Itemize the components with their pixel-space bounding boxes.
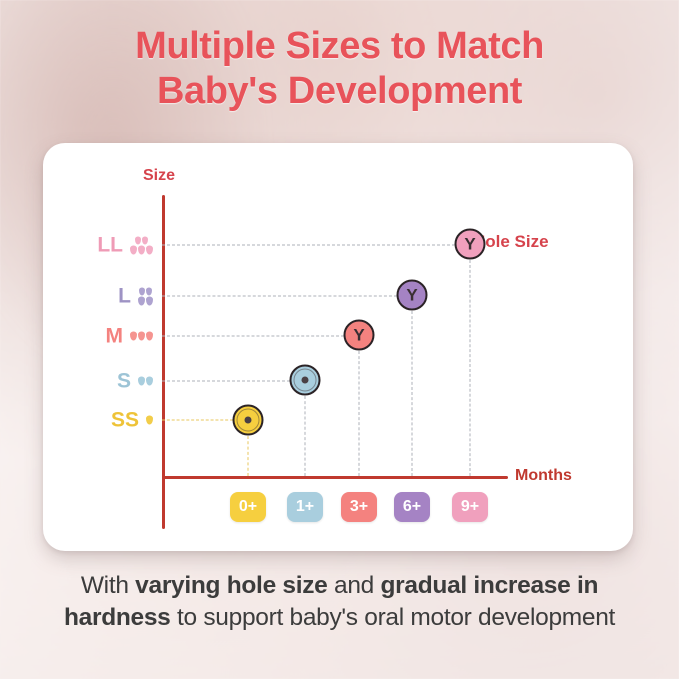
droplet-icon [146,332,153,341]
month-chip-3plus[interactable]: 3+ [341,492,377,522]
size-label-m: M [106,326,124,347]
size-label-l: L [118,286,131,307]
month-chip-1plus[interactable]: 1+ [287,492,323,522]
size-row-ll: LL [43,235,162,256]
horizontal-guide-s [162,381,290,382]
marker-inner-ring [294,369,317,392]
size-row-m: M [43,326,162,347]
droplet-icon [146,377,153,386]
size-row-ss: SS [43,410,162,431]
chart-plot-area: Size Months Hole Size LLLMSSS YYY 0+1+3+… [43,143,633,551]
droplet-row [130,332,153,341]
droplet-icon [138,377,145,386]
horizontal-guide-ss [162,420,233,421]
month-chip-label: 1+ [296,498,314,516]
month-chip-label: 0+ [239,498,257,516]
horizontal-guide-ll [162,245,455,246]
droplet-row [135,236,148,244]
droplet-icon [139,287,145,295]
month-chip-9plus[interactable]: 9+ [452,492,488,522]
droplet-icon [146,287,152,295]
chart-card: Size Months Hole Size LLLMSSS YYY 0+1+3+… [43,143,633,551]
droplet-icon [130,245,137,254]
page-title-line-2: Baby's Development [0,69,679,114]
vertical-guide-1plus [305,396,306,476]
droplet-icon [146,416,153,425]
horizontal-guide-m [162,336,344,337]
page-title: Multiple Sizes to Match Baby's Developme… [0,24,679,114]
data-marker-s[interactable] [290,365,321,396]
droplet-icon [130,332,137,341]
vertical-guide-6plus [412,311,413,476]
footer-text-2: and [328,572,381,599]
data-marker-m[interactable]: Y [344,320,375,351]
vertical-guide-3plus [359,351,360,476]
footer-text-3: to support baby's oral motor development [171,604,616,631]
month-chip-6plus[interactable]: 6+ [394,492,430,522]
footer-bold-1: varying hole size [135,572,327,599]
month-chip-label: 3+ [350,498,368,516]
vertical-guide-0plus [248,436,249,476]
droplet-icon-group-m [130,332,153,341]
droplet-icon [146,245,153,254]
droplet-icon [138,245,145,254]
droplet-icon-group-l [138,287,153,305]
x-axis-line [162,476,508,479]
footer-caption: With varying hole size and gradual incre… [34,570,645,635]
y-axis-label: Size [143,167,175,185]
droplet-icon-group-ss [146,416,153,425]
droplet-icon-group-ll [130,236,153,254]
droplet-row [139,287,152,295]
size-label-ss: SS [111,410,139,431]
month-chip-0plus[interactable]: 0+ [230,492,266,522]
month-chip-label: 6+ [403,498,421,516]
size-row-l: L [43,286,162,307]
droplet-row [146,416,153,425]
marker-label: Y [464,236,475,253]
droplet-icon [146,296,153,305]
droplet-icon [142,236,148,244]
marker-inner-ring [237,409,260,432]
data-marker-l[interactable]: Y [397,280,428,311]
horizontal-guide-l [162,296,397,297]
droplet-row [138,377,153,386]
marker-label: Y [406,287,417,304]
droplet-icon [135,236,141,244]
droplet-icon [138,296,145,305]
data-marker-ss[interactable] [233,405,264,436]
droplet-row [130,245,153,254]
data-marker-ll[interactable]: Y [455,229,486,260]
vertical-guide-9plus [470,260,471,476]
droplet-row [138,296,153,305]
droplet-icon [138,332,145,341]
size-label-ll: LL [97,235,123,256]
x-axis-label: Months [515,467,572,485]
droplet-icon-group-s [138,377,153,386]
size-label-s: S [117,371,131,392]
page-title-line-1: Multiple Sizes to Match [0,24,679,69]
footer-text-1: With [81,572,135,599]
marker-label: Y [353,327,364,344]
size-row-s: S [43,371,162,392]
month-chip-label: 9+ [461,498,479,516]
